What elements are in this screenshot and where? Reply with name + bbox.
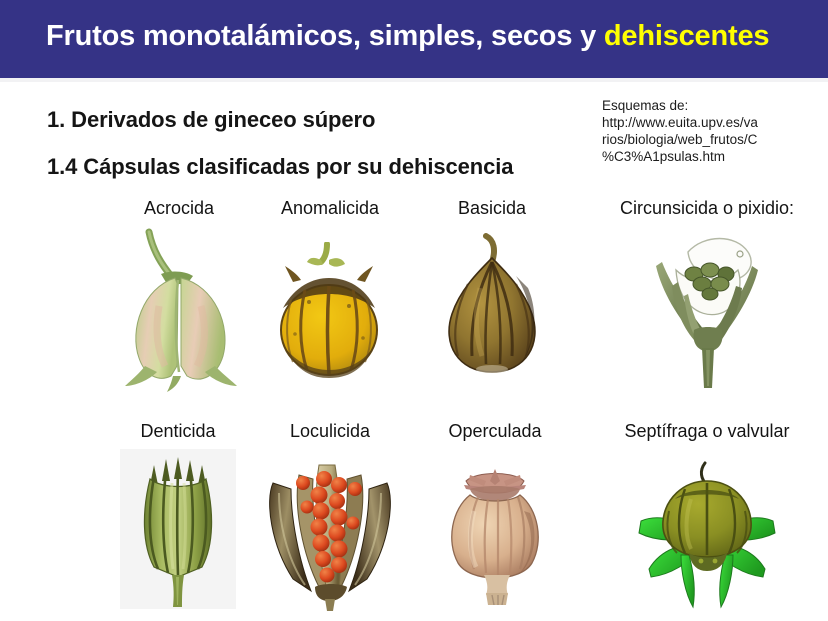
figure-septifraga: Septífraga o valvular: [582, 421, 828, 616]
figure-caption-septifraga: Septífraga o valvular: [582, 421, 828, 442]
figure-caption-circunsicida: Circunsicida o pixidio:: [582, 198, 828, 219]
figure-operculada: Operculada: [395, 421, 595, 616]
capsule-septifraga-icon: [582, 449, 828, 614]
capsule-basicida-icon: [392, 226, 592, 396]
source-note-line-3: %C3%A1psulas.htm: [602, 148, 807, 165]
source-note: Esquemas de: http://www.euita.upv.es/va …: [602, 97, 807, 165]
page-title: Frutos monotalámicos, simples, secos y d…: [46, 20, 769, 53]
figure-caption-basicida: Basicida: [392, 198, 592, 219]
figure-caption-operculada: Operculada: [395, 421, 595, 442]
slide-canvas: Frutos monotalámicos, simples, secos y d…: [0, 0, 828, 621]
title-divider: [0, 78, 828, 82]
page-title-highlight: dehiscentes: [604, 20, 769, 52]
source-note-line-2: rios/biologia/web_frutos/C: [602, 131, 807, 148]
capsule-operculada-icon: [395, 449, 595, 614]
figure-basicida: Basicida: [392, 198, 592, 398]
figure-circunsicida: Circunsicida o pixidio:: [582, 198, 828, 398]
capsule-circunsicida-icon: [582, 226, 828, 396]
source-note-line-0: Esquemas de:: [602, 97, 807, 114]
heading-section-1: 1. Derivados de gineceo súpero: [47, 107, 375, 133]
source-note-line-1: http://www.euita.upv.es/va: [602, 114, 807, 131]
page-title-prefix: Frutos monotalámicos, simples, secos y: [46, 20, 604, 52]
heading-section-1-4: 1.4 Cápsulas clasificadas por su dehisce…: [47, 154, 513, 180]
